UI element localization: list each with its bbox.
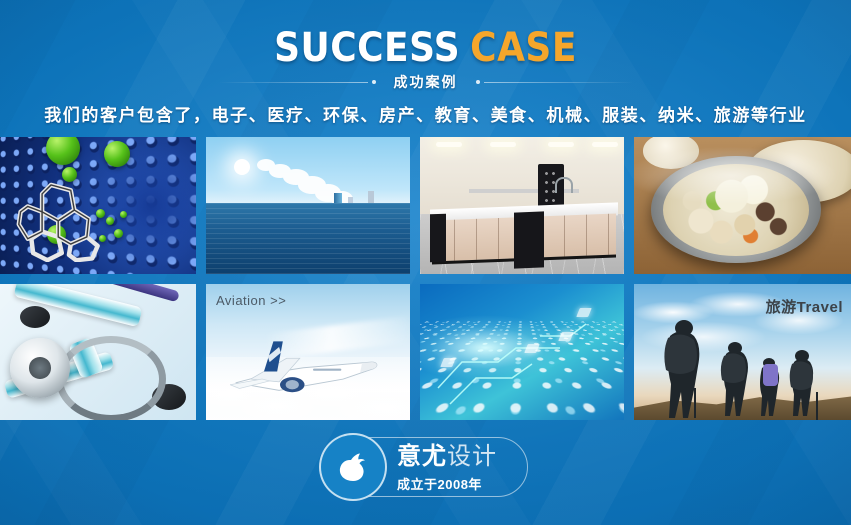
gallery-item-medical[interactable] [0,284,196,420]
fullerene-molecule-icon [14,176,106,262]
water-surface [206,203,410,274]
gallery-item-electronics[interactable] [420,284,624,420]
stethoscope-chestpiece [10,338,70,398]
travel-illustration: 旅游Travel [634,284,851,420]
medical-illustration [0,284,196,420]
divider-line-right [484,82,634,83]
title-main-text: SUCCESS [274,25,460,71]
gallery-item-travel[interactable]: 旅游Travel [634,284,851,420]
lab-bench-end-panel [430,213,446,262]
logo-brand-name: 意尤设计 [397,443,525,471]
stethoscope-ring [56,336,166,420]
nano-green-sphere [106,217,114,225]
travel-caption: 旅游Travel [766,296,843,317]
ceiling-lamp-icon [436,142,462,147]
divider-line-left [218,82,368,83]
gallery-item-aviation[interactable]: Aviation >> [206,284,410,420]
logo-text-block: 意尤设计 成立于2008年 [397,443,525,493]
gallery-item-environment[interactable] [206,137,410,274]
airplane-icon [230,330,381,393]
stethoscope-earpiece [20,306,50,328]
lab-bench-mid-panel [514,211,544,268]
page-title: SUCCESSCASE [0,26,851,70]
lab-wall [420,137,624,214]
header-section: SUCCESSCASE 成功案例 我们的客户包含了，电子、医疗、环保、房产、教育… [0,0,851,132]
bird-mark-icon [319,433,387,501]
subtitle-divider-row: 成功案例 [0,72,851,92]
nano-green-sphere [120,211,127,218]
divider-dot-right [476,80,480,84]
logo-brand-bold: 意尤 [397,443,447,470]
gallery-item-nanotech[interactable] [0,137,196,274]
logo-brand-light: 设计 [447,443,497,470]
gallery-item-laboratory[interactable] [420,137,624,274]
title-accent-text: CASE [470,25,577,71]
lab-faucet-icon [555,177,573,193]
nano-green-sphere [104,141,130,167]
ceiling-lamp-icon [548,142,574,147]
environment-illustration [206,137,410,274]
electronics-illustration [420,284,624,420]
divider-dot-left [372,80,376,84]
circuit-traces [420,284,624,420]
laboratory-illustration [420,137,624,274]
aviation-caption: Aviation >> [216,293,286,308]
subtitle-chinese: 成功案例 [380,72,472,92]
case-gallery-grid: Aviation >> [0,137,851,420]
ceiling-lamp-icon [592,142,618,147]
logo-established-text: 成立于2008年 [397,474,525,493]
gallery-item-food[interactable] [634,137,851,274]
aviation-illustration: Aviation >> [206,284,410,420]
nano-green-sphere [114,229,123,238]
steam-overlay [634,137,851,274]
brand-logo[interactable]: 意尤设计 成立于2008年 [323,437,528,497]
nanotech-illustration [0,137,196,274]
sun-icon [234,159,250,175]
ceiling-lamp-icon [490,142,516,147]
food-illustration [634,137,851,274]
tagline-text: 我们的客户包含了，电子、医疗、环保、房产、教育、美食、机械、服装、纳米、旅游等行… [0,101,851,126]
